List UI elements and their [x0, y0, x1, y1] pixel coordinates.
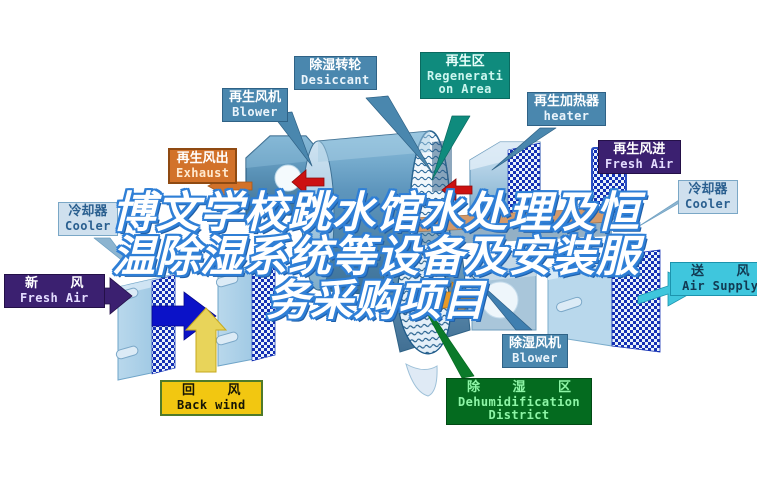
label-regeneration-area-en-1: Regenerati: [427, 70, 503, 83]
label-air-supply: 送 风 Air Supply: [670, 262, 757, 296]
label-exhaust: 再生风出 Exhaust: [168, 148, 237, 184]
label-cooler-left: 冷却器 Cooler: [58, 202, 118, 236]
label-regen-heater: 再生加热器 heater: [527, 92, 606, 126]
label-dehumidification-district: 除 湿 区 Dehumidification District: [446, 378, 592, 425]
label-regen-blower: 再生风机 Blower: [222, 88, 288, 122]
label-regeneration-area-cn: 再生区: [427, 55, 503, 70]
label-regen-heater-en: heater: [534, 110, 599, 123]
label-fresh-air-cn: 新 风: [11, 277, 98, 292]
label-fresh-air-en: Fresh Air: [11, 292, 98, 305]
label-cooler-right-cn: 冷却器: [685, 183, 731, 198]
label-regen-blower-en: Blower: [229, 106, 281, 119]
label-dehumid-blower-cn: 除湿风机: [509, 337, 561, 352]
label-back-wind-cn: 回 风: [168, 384, 255, 399]
label-cooler-right-en: Cooler: [685, 198, 731, 211]
label-dehumidification-district-cn: 除 湿 区: [453, 381, 585, 396]
regen-heater-block: [470, 142, 540, 219]
label-back-wind: 回 风 Back wind: [160, 380, 263, 416]
dehumid-blower-housing: [472, 254, 536, 330]
dehumidifier-schematic-illustration: [0, 0, 757, 488]
label-cooler-right: 冷却器 Cooler: [678, 180, 738, 214]
label-cooler-left-en: Cooler: [65, 220, 111, 233]
diagram-canvas: 除湿转轮 Desiccant 再生风机 Blower 再生区 Regenerat…: [0, 0, 757, 488]
label-dehumidification-district-en-1: Dehumidification: [453, 396, 585, 409]
label-regen-fresh-air-cn: 再生风进: [605, 143, 674, 158]
label-desiccant-wheel: 除湿转轮 Desiccant: [294, 56, 377, 90]
second-coil-cabinet: [215, 262, 275, 366]
label-fresh-air: 新 风 Fresh Air: [4, 274, 105, 308]
label-exhaust-cn: 再生风出: [176, 152, 229, 167]
label-regeneration-area: 再生区 Regenerati on Area: [420, 52, 510, 99]
label-regen-fresh-air: 再生风进 Fresh Air: [598, 140, 681, 174]
label-dehumidification-district-en-2: District: [453, 409, 585, 422]
label-regen-fresh-air-en: Fresh Air: [605, 158, 674, 171]
label-exhaust-en: Exhaust: [176, 167, 229, 180]
label-regen-heater-cn: 再生加热器: [534, 95, 599, 110]
label-dehumid-blower: 除湿风机 Blower: [502, 334, 568, 368]
label-back-wind-en: Back wind: [168, 399, 255, 412]
process-rotor-lower: [382, 248, 470, 396]
label-regeneration-area-en-2: on Area: [427, 83, 503, 96]
label-dehumid-blower-en: Blower: [509, 352, 561, 365]
label-regen-blower-cn: 再生风机: [229, 91, 281, 106]
label-desiccant-wheel-en: Desiccant: [301, 74, 370, 87]
label-air-supply-cn: 送 风: [677, 265, 757, 280]
label-desiccant-wheel-cn: 除湿转轮: [301, 59, 370, 74]
label-air-supply-en: Air Supply: [677, 280, 757, 293]
label-cooler-left-cn: 冷却器: [65, 205, 111, 220]
